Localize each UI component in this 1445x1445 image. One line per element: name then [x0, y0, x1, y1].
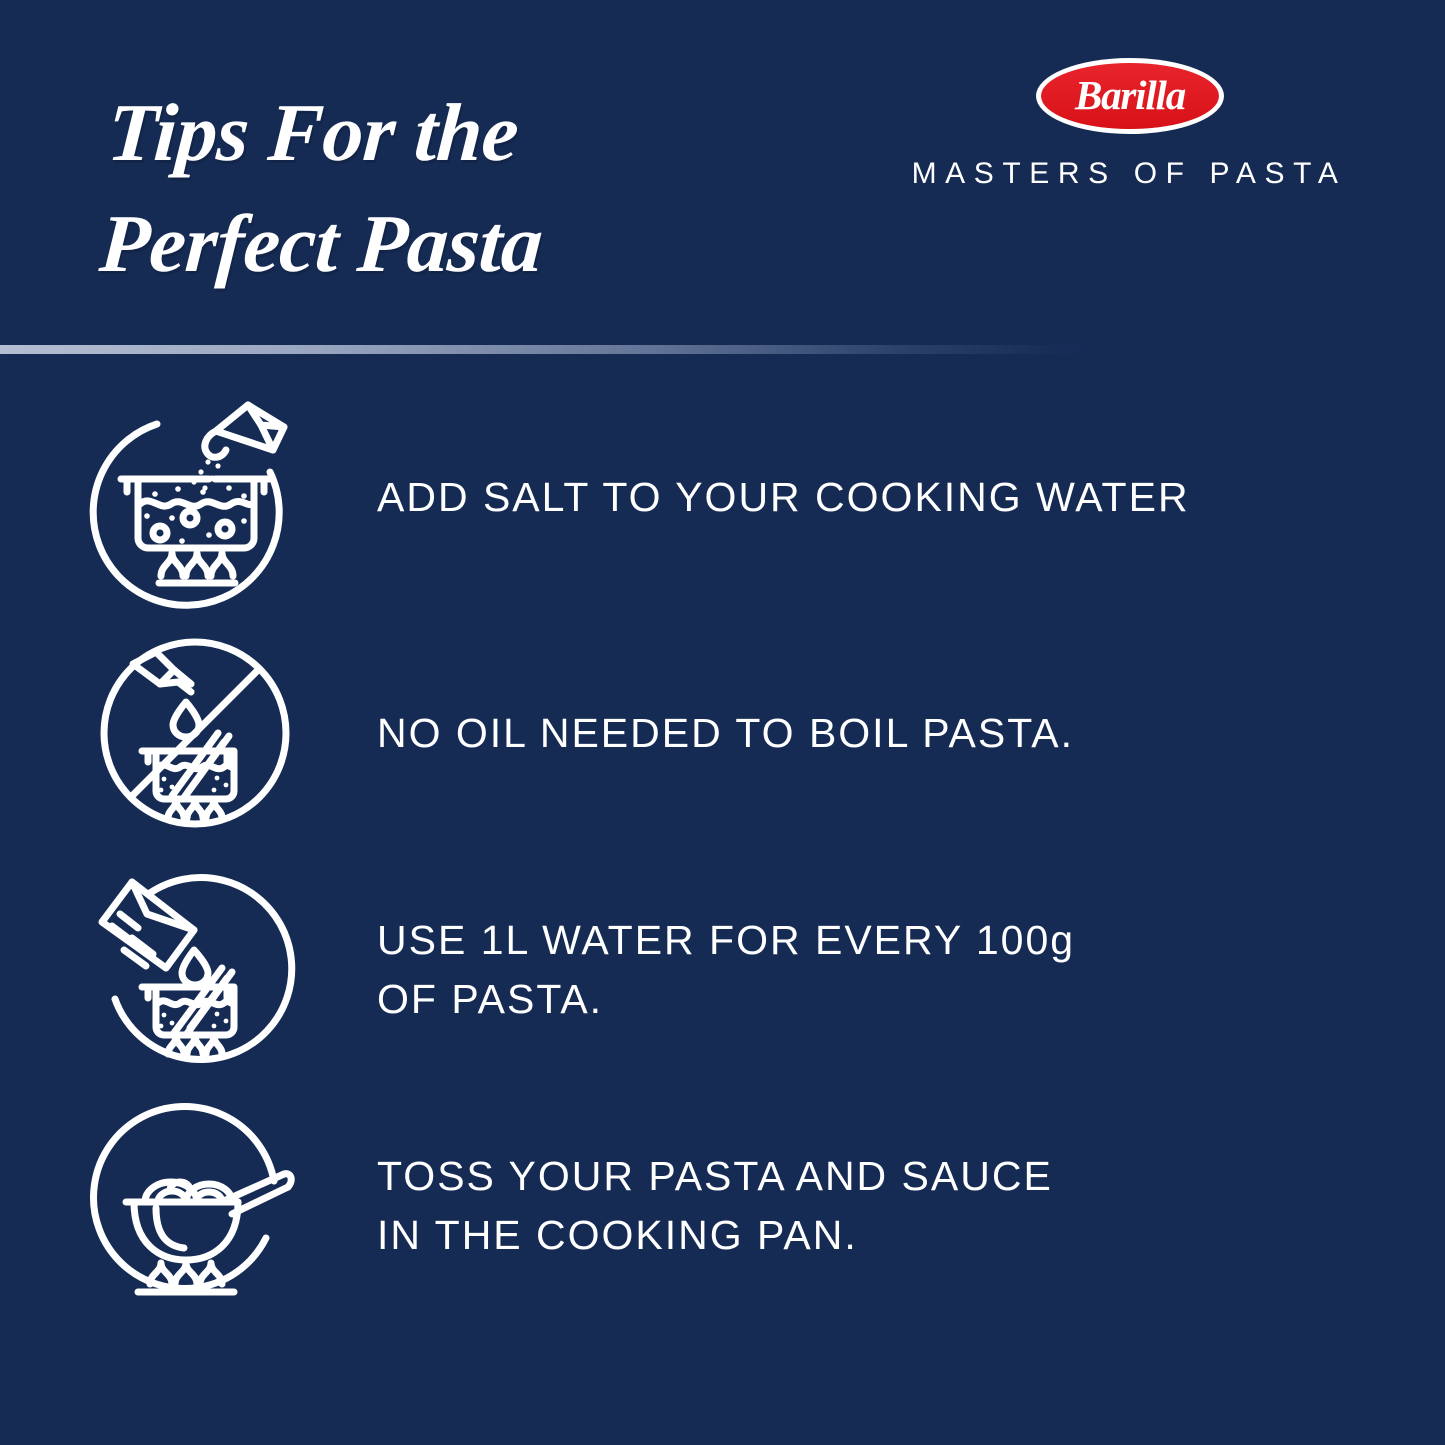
list-item: USE 1L WATER FOR EVERY 100g OF PASTA.: [0, 872, 1445, 1108]
salt-into-pot-icon: [98, 400, 293, 595]
barilla-logo: Barilla: [1036, 58, 1224, 134]
list-item: TOSS YOUR PASTA AND SAUCE IN THE COOKING…: [0, 1108, 1445, 1344]
list-item: NO OIL NEEDED TO BOIL PASTA.: [0, 636, 1445, 872]
brand-tagline: MASTERS OF PASTA: [876, 157, 1382, 191]
tip-text: NO OIL NEEDED TO BOIL PASTA.: [377, 636, 1307, 831]
tip-text: USE 1L WATER FOR EVERY 100g OF PASTA.: [377, 872, 1307, 1067]
tips-infographic-poster: Tips For the Perfect Pasta Barilla MASTE…: [0, 0, 1445, 1445]
tips-list: ADD SALT TO YOUR COOKING WATER: [0, 400, 1445, 1344]
list-item: ADD SALT TO YOUR COOKING WATER: [0, 400, 1445, 636]
header-divider: [0, 345, 1445, 354]
page-title-line-1: Tips For the: [104, 78, 772, 189]
page-title-line-2: Perfect Pasta: [96, 189, 764, 300]
tip-text-line-1: USE 1L WATER FOR EVERY 100g: [377, 911, 1307, 969]
toss-pasta-in-pan-icon: [98, 1108, 293, 1303]
no-oil-in-pot-icon: [98, 636, 293, 831]
tip-text: ADD SALT TO YOUR COOKING WATER: [377, 400, 1307, 595]
tip-text: TOSS YOUR PASTA AND SAUCE IN THE COOKING…: [377, 1108, 1307, 1303]
tip-text-line-1: NO OIL NEEDED TO BOIL PASTA.: [377, 704, 1307, 762]
tip-text-line-2: IN THE COOKING PAN.: [377, 1206, 1307, 1264]
tip-text-line-1: TOSS YOUR PASTA AND SAUCE: [377, 1147, 1307, 1205]
logo-wordmark: Barilla: [1036, 58, 1224, 134]
tip-text-line-1: ADD SALT TO YOUR COOKING WATER: [377, 468, 1307, 526]
page-title: Tips For the Perfect Pasta: [96, 78, 771, 299]
water-measure-into-pot-icon: [98, 872, 293, 1067]
tip-text-line-2: OF PASTA.: [377, 970, 1307, 1028]
